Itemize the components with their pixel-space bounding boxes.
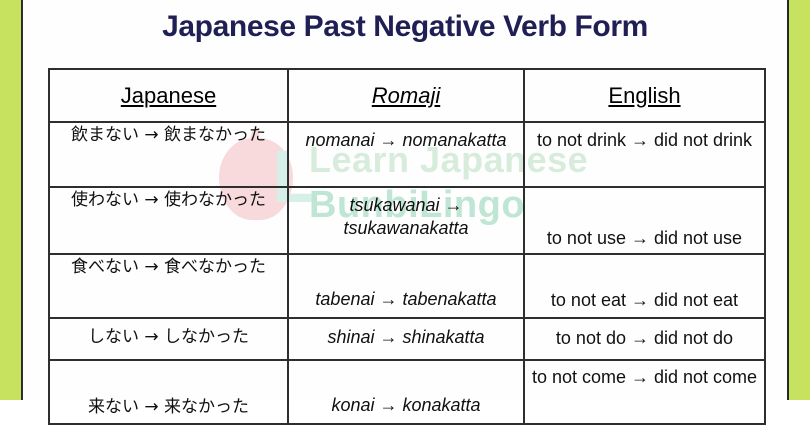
verb-table: Japanese Romaji English 飲まない → 飲まなかった no… bbox=[48, 68, 766, 425]
cell-english: to not eat → did not eat bbox=[524, 254, 765, 318]
cell-japanese: 食べない → 食べなかった bbox=[49, 254, 288, 318]
table-row: 使わない → 使わなかった tsukawanai → tsukawanakatt… bbox=[49, 187, 765, 254]
column-header-romaji-label: Romaji bbox=[372, 83, 440, 108]
infographic-page: L Learn Japanese BunbiLingo Japanese Pas… bbox=[0, 0, 810, 400]
cell-japanese: しない → しなかった bbox=[49, 318, 288, 360]
table-body: 飲まない → 飲まなかった nomanai → nomanakatta to n… bbox=[49, 122, 765, 424]
cell-romaji: nomanai → nomanakatta bbox=[288, 122, 524, 187]
table-row: 飲まない → 飲まなかった nomanai → nomanakatta to n… bbox=[49, 122, 765, 187]
cell-english: to not drink → did not drink bbox=[524, 122, 765, 187]
left-green-border bbox=[0, 0, 23, 400]
cell-english: to not come → did not come bbox=[524, 360, 765, 424]
cell-romaji: konai → konakatta bbox=[288, 360, 524, 424]
cell-romaji: tabenai → tabenakatta bbox=[288, 254, 524, 318]
table-header: Japanese Romaji English bbox=[49, 69, 765, 122]
cell-english: to not do → did not do bbox=[524, 318, 765, 360]
right-green-border bbox=[787, 0, 810, 400]
column-header-japanese: Japanese bbox=[49, 69, 288, 122]
cell-english: to not use → did not use bbox=[524, 187, 765, 254]
cell-romaji: tsukawanai → tsukawanakatta bbox=[288, 187, 524, 254]
content-area: L Learn Japanese BunbiLingo Japanese Pas… bbox=[23, 0, 787, 400]
cell-japanese: 使わない → 使わなかった bbox=[49, 187, 288, 254]
cell-japanese: 来ない → 来なかった bbox=[49, 360, 288, 424]
verb-table-wrapper: Japanese Romaji English 飲まない → 飲まなかった no… bbox=[48, 68, 764, 425]
page-title: Japanese Past Negative Verb Form bbox=[23, 10, 787, 44]
column-header-romaji: Romaji bbox=[288, 69, 524, 122]
column-header-english: English bbox=[524, 69, 765, 122]
cell-romaji: shinai → shinakatta bbox=[288, 318, 524, 360]
table-row: しない → しなかった shinai → shinakatta to not d… bbox=[49, 318, 765, 360]
table-header-row: Japanese Romaji English bbox=[49, 69, 765, 122]
table-row: 食べない → 食べなかった tabenai → tabenakatta to n… bbox=[49, 254, 765, 318]
cell-japanese: 飲まない → 飲まなかった bbox=[49, 122, 288, 187]
column-header-english-label: English bbox=[608, 83, 680, 108]
column-header-japanese-label: Japanese bbox=[121, 83, 216, 108]
table-row: 来ない → 来なかった konai → konakatta to not com… bbox=[49, 360, 765, 424]
